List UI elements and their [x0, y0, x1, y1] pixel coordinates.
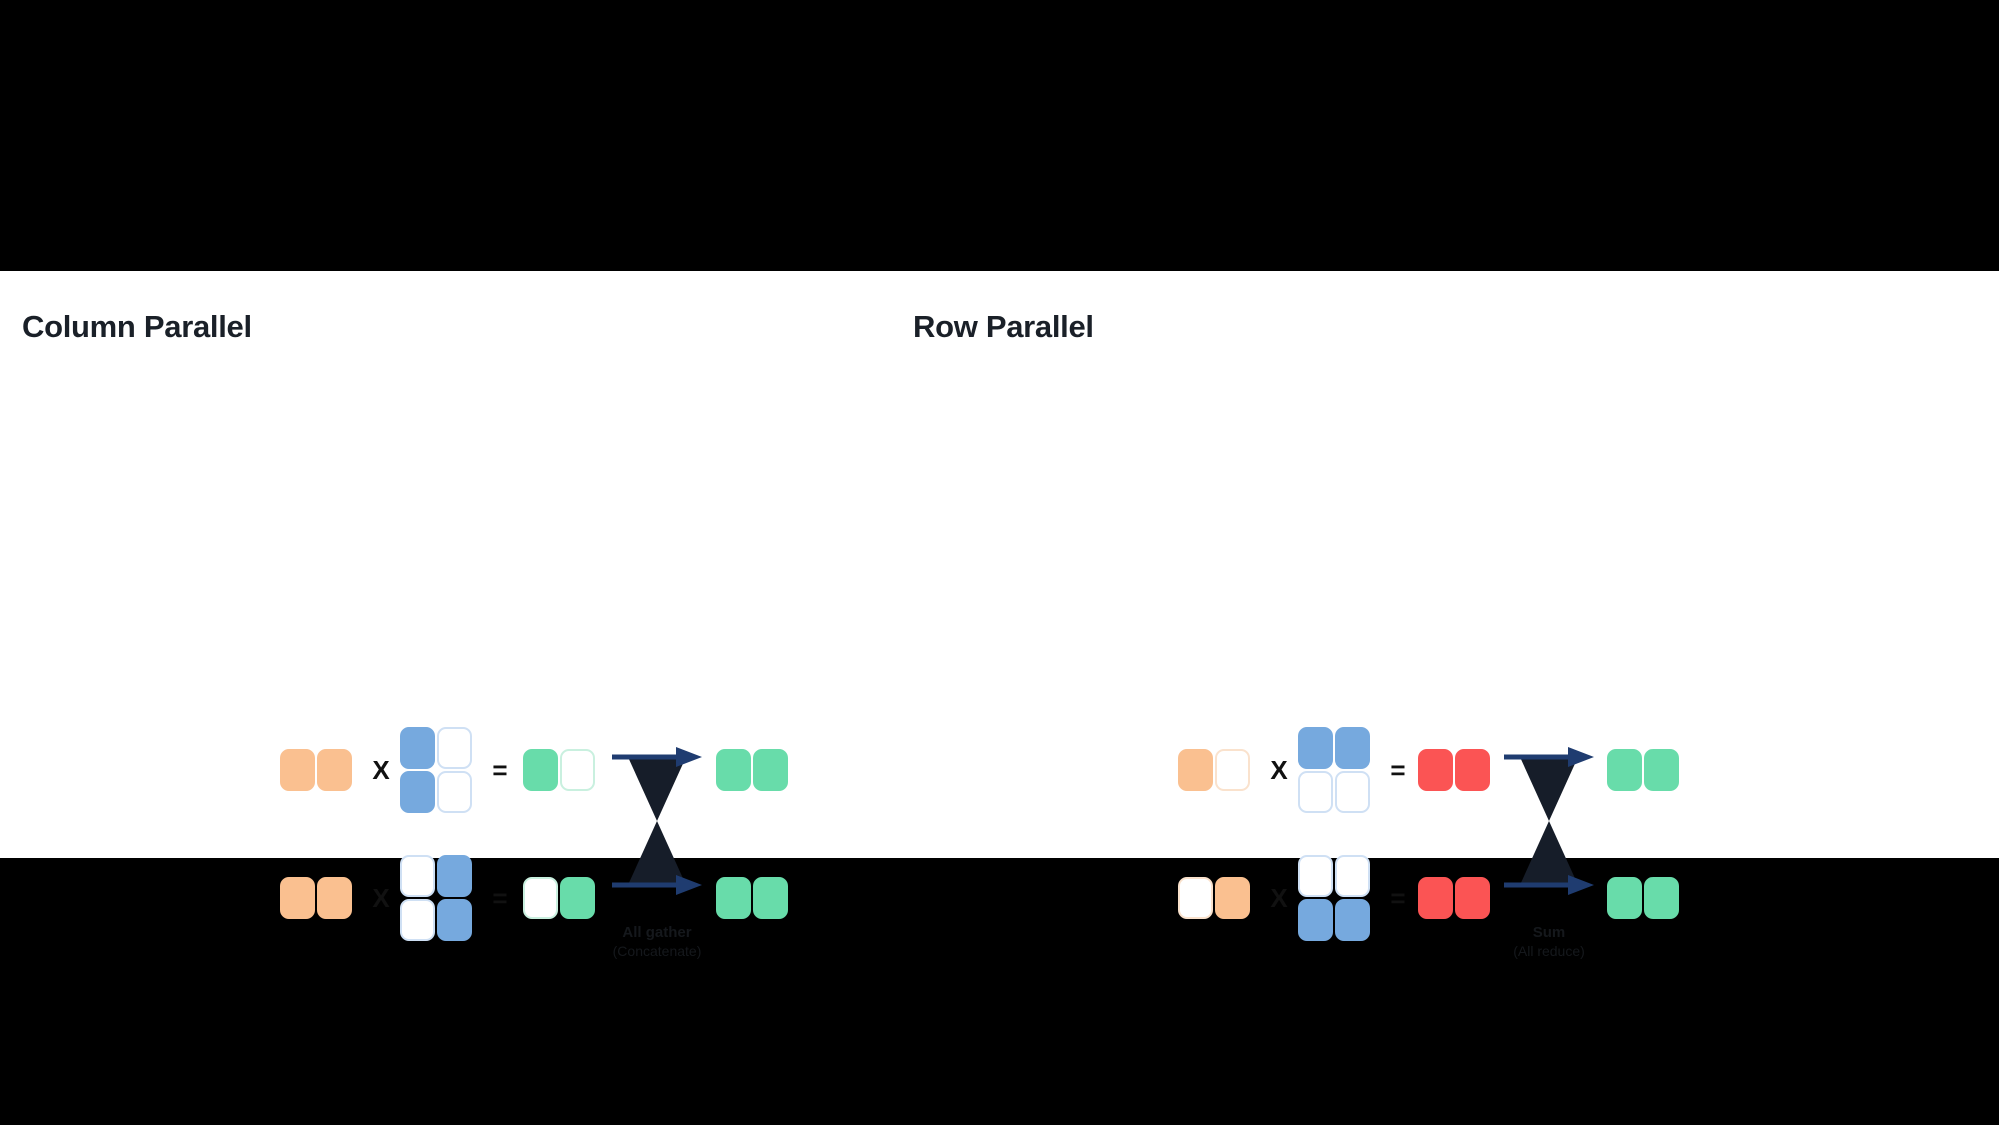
collective-name: All gather — [547, 923, 767, 942]
collective-name: Sum — [1439, 923, 1659, 942]
cell-input-0 — [1178, 877, 1213, 919]
cell-input-1 — [1215, 749, 1250, 791]
cell-weight-0-0 — [1298, 727, 1333, 769]
cell-partial-0 — [523, 877, 558, 919]
cell-weight-1-1 — [1335, 899, 1370, 941]
operator-multiply-cp-r1: X — [370, 877, 392, 919]
cell-partial-0 — [1418, 749, 1453, 791]
diagram-canvas: Column Parallel X = — [0, 0, 1999, 1125]
diagram-stage: Column Parallel X = — [0, 271, 1999, 858]
cell-partial-1 — [560, 877, 595, 919]
letterbox-bar-top — [0, 0, 1999, 271]
cell-output-0 — [1607, 749, 1642, 791]
operator-equals-rp-r0: = — [1387, 749, 1409, 791]
cell-partial-1 — [1455, 877, 1490, 919]
equation-row-row-parallel-rank-0: X = — [910, 725, 1999, 815]
cell-weight-0-1 — [1335, 727, 1370, 769]
panel-title-column-parallel: Column Parallel — [22, 309, 252, 345]
cell-weight-0-1 — [437, 727, 472, 769]
panel-column-parallel: Column Parallel X = — [0, 271, 910, 858]
cell-output-1 — [1644, 749, 1679, 791]
cell-weight-1-1 — [1335, 771, 1370, 813]
cell-weight-0-0 — [1298, 855, 1333, 897]
cell-partial-1 — [1455, 749, 1490, 791]
operator-multiply-cp-r0: X — [370, 749, 392, 791]
cell-input-0 — [1178, 749, 1213, 791]
cell-input-0 — [280, 877, 315, 919]
cell-output-0 — [716, 749, 751, 791]
cell-weight-1-1 — [437, 899, 472, 941]
cell-partial-0 — [523, 749, 558, 791]
operator-equals-cp-r0: = — [489, 749, 511, 791]
collective-detail: (Concatenate) — [547, 942, 767, 960]
cell-output-1 — [753, 877, 788, 919]
panel-title-row-parallel: Row Parallel — [913, 309, 1094, 345]
cell-weight-0-0 — [400, 727, 435, 769]
cell-output-1 — [1644, 877, 1679, 919]
operator-equals-rp-r1: = — [1387, 877, 1409, 919]
equation-row-column-parallel-rank-0: X = — [0, 725, 910, 815]
cell-weight-0-0 — [400, 855, 435, 897]
cell-partial-1 — [560, 749, 595, 791]
operator-multiply-rp-r0: X — [1268, 749, 1290, 791]
cell-weight-0-1 — [1335, 855, 1370, 897]
cell-output-0 — [1607, 877, 1642, 919]
cell-input-1 — [317, 877, 352, 919]
cell-weight-1-0 — [1298, 899, 1333, 941]
cell-weight-1-0 — [400, 899, 435, 941]
cell-weight-0-1 — [437, 855, 472, 897]
cell-input-0 — [280, 749, 315, 791]
all-gather-caption: All gather (Concatenate) — [547, 923, 767, 960]
collective-detail: (All reduce) — [1439, 942, 1659, 960]
operator-multiply-rp-r1: X — [1268, 877, 1290, 919]
all-reduce-caption: Sum (All reduce) — [1439, 923, 1659, 960]
cell-output-1 — [753, 749, 788, 791]
cell-output-0 — [716, 877, 751, 919]
operator-equals-cp-r1: = — [489, 877, 511, 919]
cell-input-1 — [317, 749, 352, 791]
cell-weight-1-1 — [437, 771, 472, 813]
panel-row-parallel: Row Parallel X = — [910, 271, 1999, 858]
cell-input-1 — [1215, 877, 1250, 919]
equation-row-column-parallel-rank-1: X = — [0, 853, 910, 943]
cell-partial-0 — [1418, 877, 1453, 919]
cell-weight-1-0 — [1298, 771, 1333, 813]
cell-weight-1-0 — [400, 771, 435, 813]
